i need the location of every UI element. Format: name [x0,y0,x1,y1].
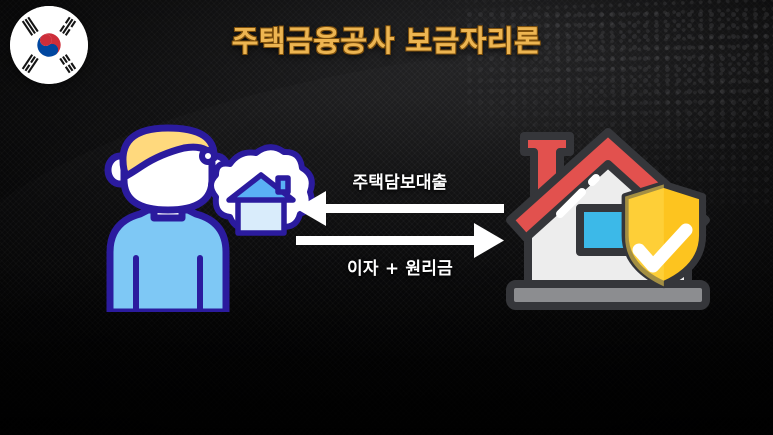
diagram-scene: 주택담보대출 이자 + 원리금 [0,0,773,435]
flow-label-repayment: 이자 + 원리금 [296,254,504,279]
arrow-repayment-right [296,223,504,258]
arrow-loan-left [296,191,504,226]
slide-canvas: 주택금융공사 보금자리론 [0,0,773,435]
bank-house-shield-icon [496,118,720,314]
flow-label-loan: 주택담보대출 [296,168,504,193]
